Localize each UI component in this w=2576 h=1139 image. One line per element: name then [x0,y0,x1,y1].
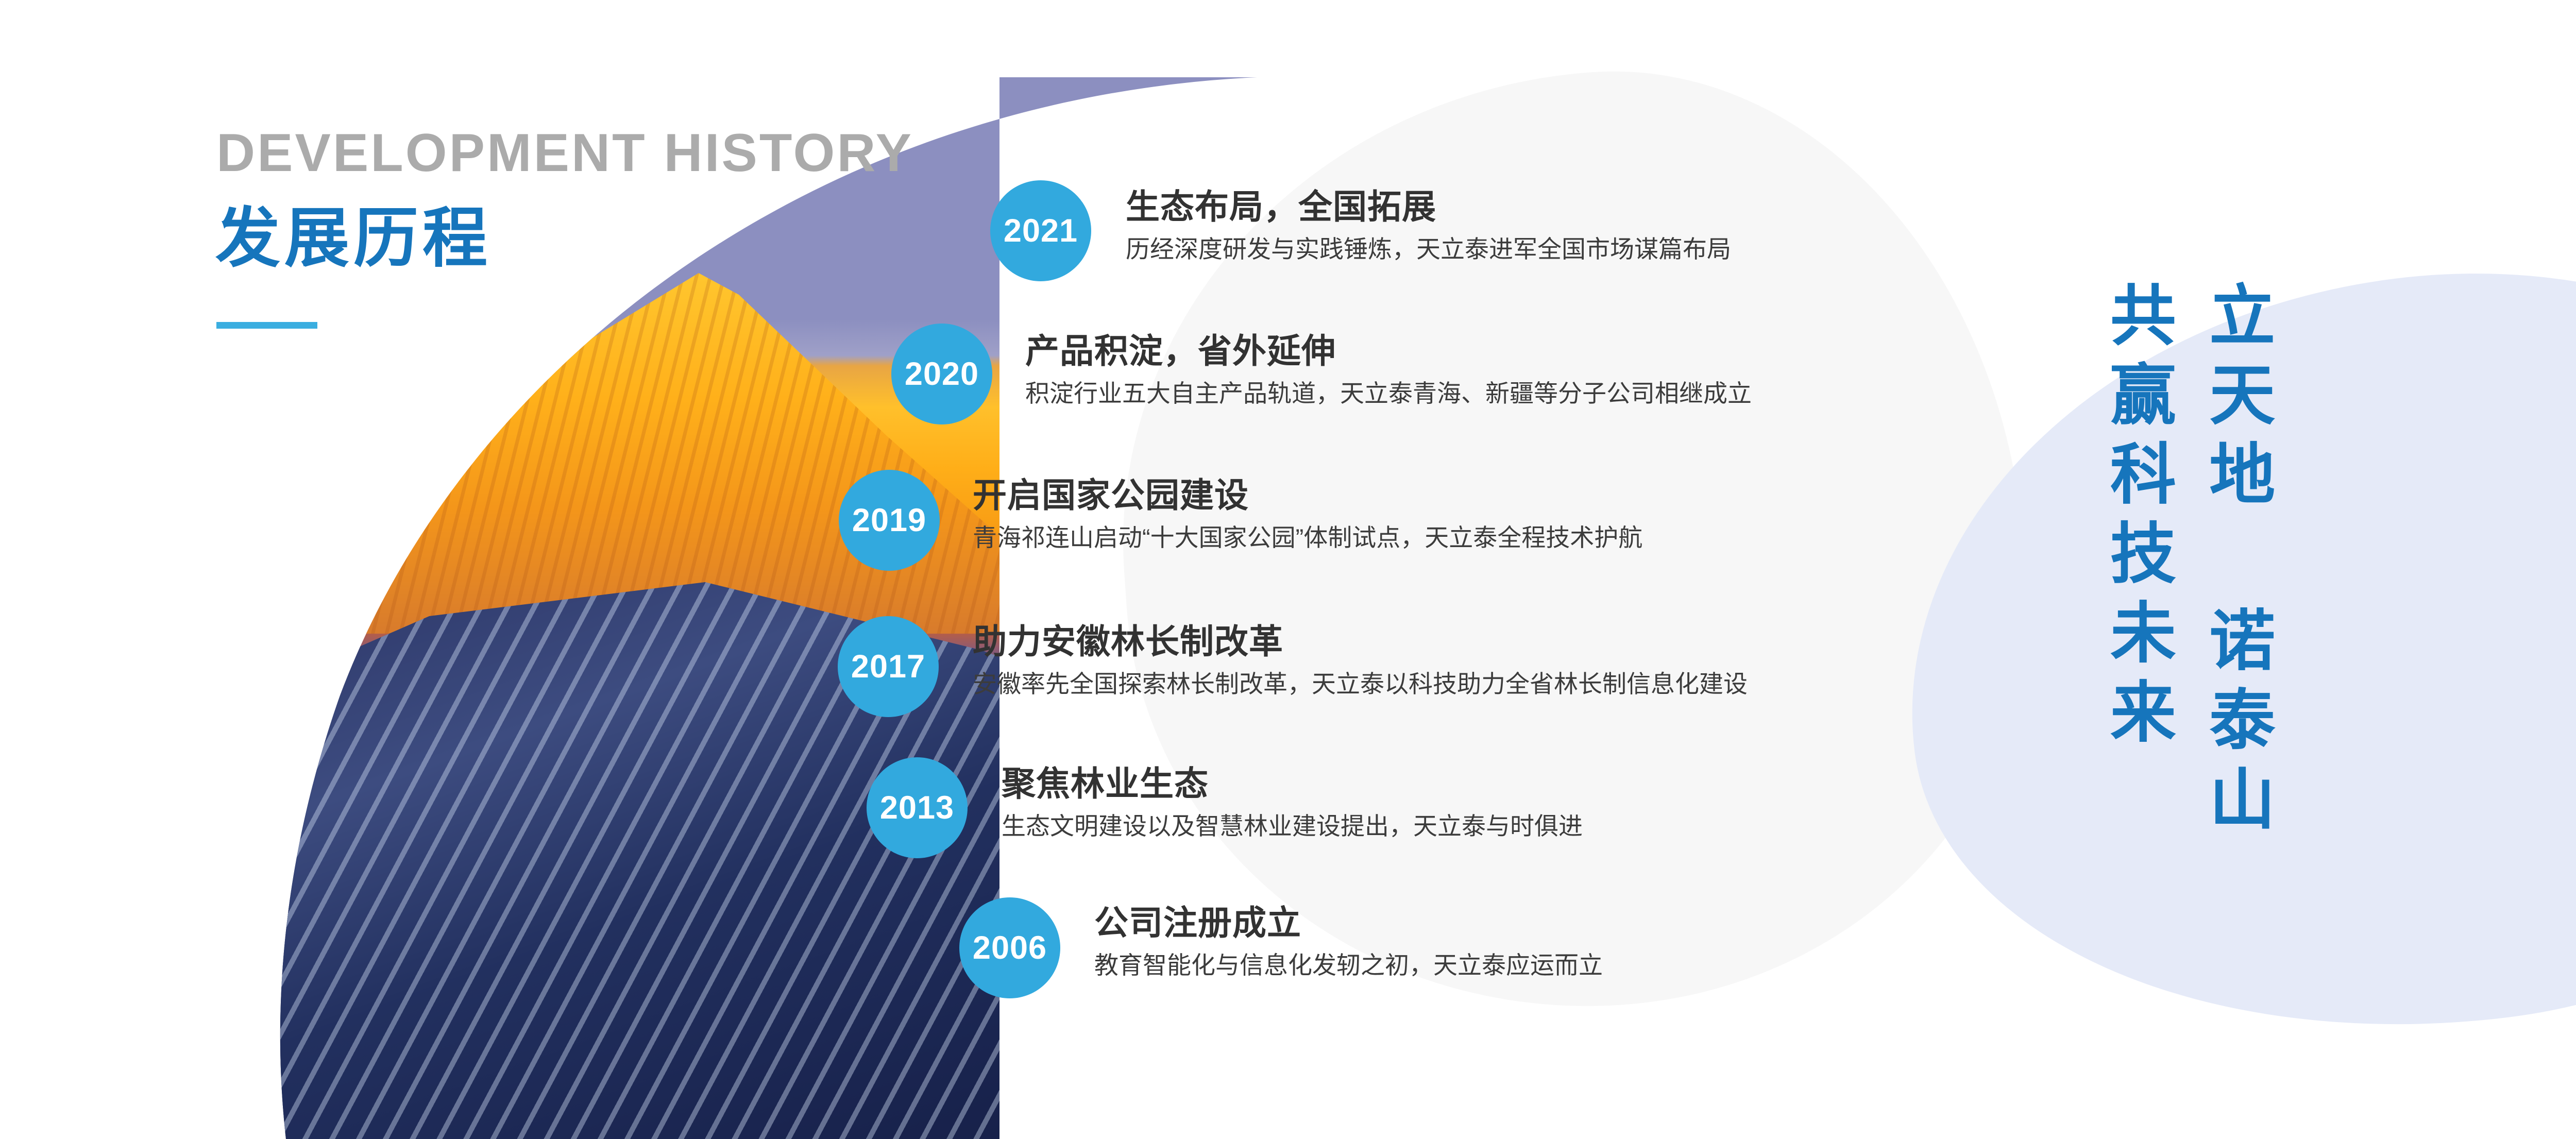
timeline-year-badge[interactable]: 2006 [959,897,1060,998]
timeline-title: 开启国家公园建设 [973,478,1642,512]
timeline-title: 公司注册成立 [1094,906,1603,940]
timeline-text-block: 开启国家公园建设 青海祁连山启动“十大国家公园”体制试点，天立泰全程技术护航 [973,478,1642,550]
title-underline [216,322,317,329]
timeline-text-block: 聚焦林业生态 生态文明建设以及智慧林业建设提出，天立泰与时俱进 [1002,767,1583,838]
slide-canvas: DEVELOPMENT HISTORY 发展历程 2021 生态布局，全国拓展 … [0,0,2576,1139]
section-eyebrow: DEVELOPMENT HISTORY [216,126,913,180]
timeline-year-badge[interactable]: 2020 [891,324,992,424]
slogan-column-right: 立天地 诺泰山 [2201,281,2270,844]
timeline-description: 教育智能化与信息化发轫之初，天立泰应运而立 [1094,953,1603,977]
timeline-text-block: 生态布局，全国拓展 历经深度研发与实践锤炼，天立泰进军全国市场谋篇布局 [1126,190,1731,261]
timeline-description: 安徽率先全国探索林长制改革，天立泰以科技助力全省林长制信息化建设 [973,672,1748,696]
timeline-description: 积淀行业五大自主产品轨道，天立泰青海、新疆等分子公司相继成立 [1025,381,1752,405]
timeline-year-badge[interactable]: 2021 [990,180,1091,281]
timeline-description: 生态文明建设以及智慧林业建设提出，天立泰与时俱进 [1002,814,1583,838]
timeline-year-badge[interactable]: 2013 [867,757,968,858]
timeline-text-block: 公司注册成立 教育智能化与信息化发轫之初，天立泰应运而立 [1094,906,1603,977]
timeline-text-block: 产品积淀，省外延伸 积淀行业五大自主产品轨道，天立泰青海、新疆等分子公司相继成立 [1025,334,1752,405]
page-title: 发展历程 [215,206,492,271]
timeline-title: 生态布局，全国拓展 [1126,190,1731,224]
timeline-year-badge[interactable]: 2017 [838,616,939,717]
slogan-column-left: 共赢科技未来 [2102,281,2171,757]
timeline-title: 助力安徽林长制改革 [973,624,1748,658]
timeline-description: 青海祁连山启动“十大国家公园”体制试点，天立泰全程技术护航 [973,525,1642,550]
timeline-description: 历经深度研发与实践锤炼，天立泰进军全国市场谋篇布局 [1126,237,1731,261]
timeline-year-badge[interactable]: 2019 [839,470,940,571]
brand-slogan: 共赢科技未来 立天地 诺泰山 [2102,281,2576,844]
timeline-title: 聚焦林业生态 [1002,767,1583,801]
timeline-title: 产品积淀，省外延伸 [1025,334,1752,368]
timeline-text-block: 助力安徽林长制改革 安徽率先全国探索林长制改革，天立泰以科技助力全省林长制信息化… [973,624,1748,696]
